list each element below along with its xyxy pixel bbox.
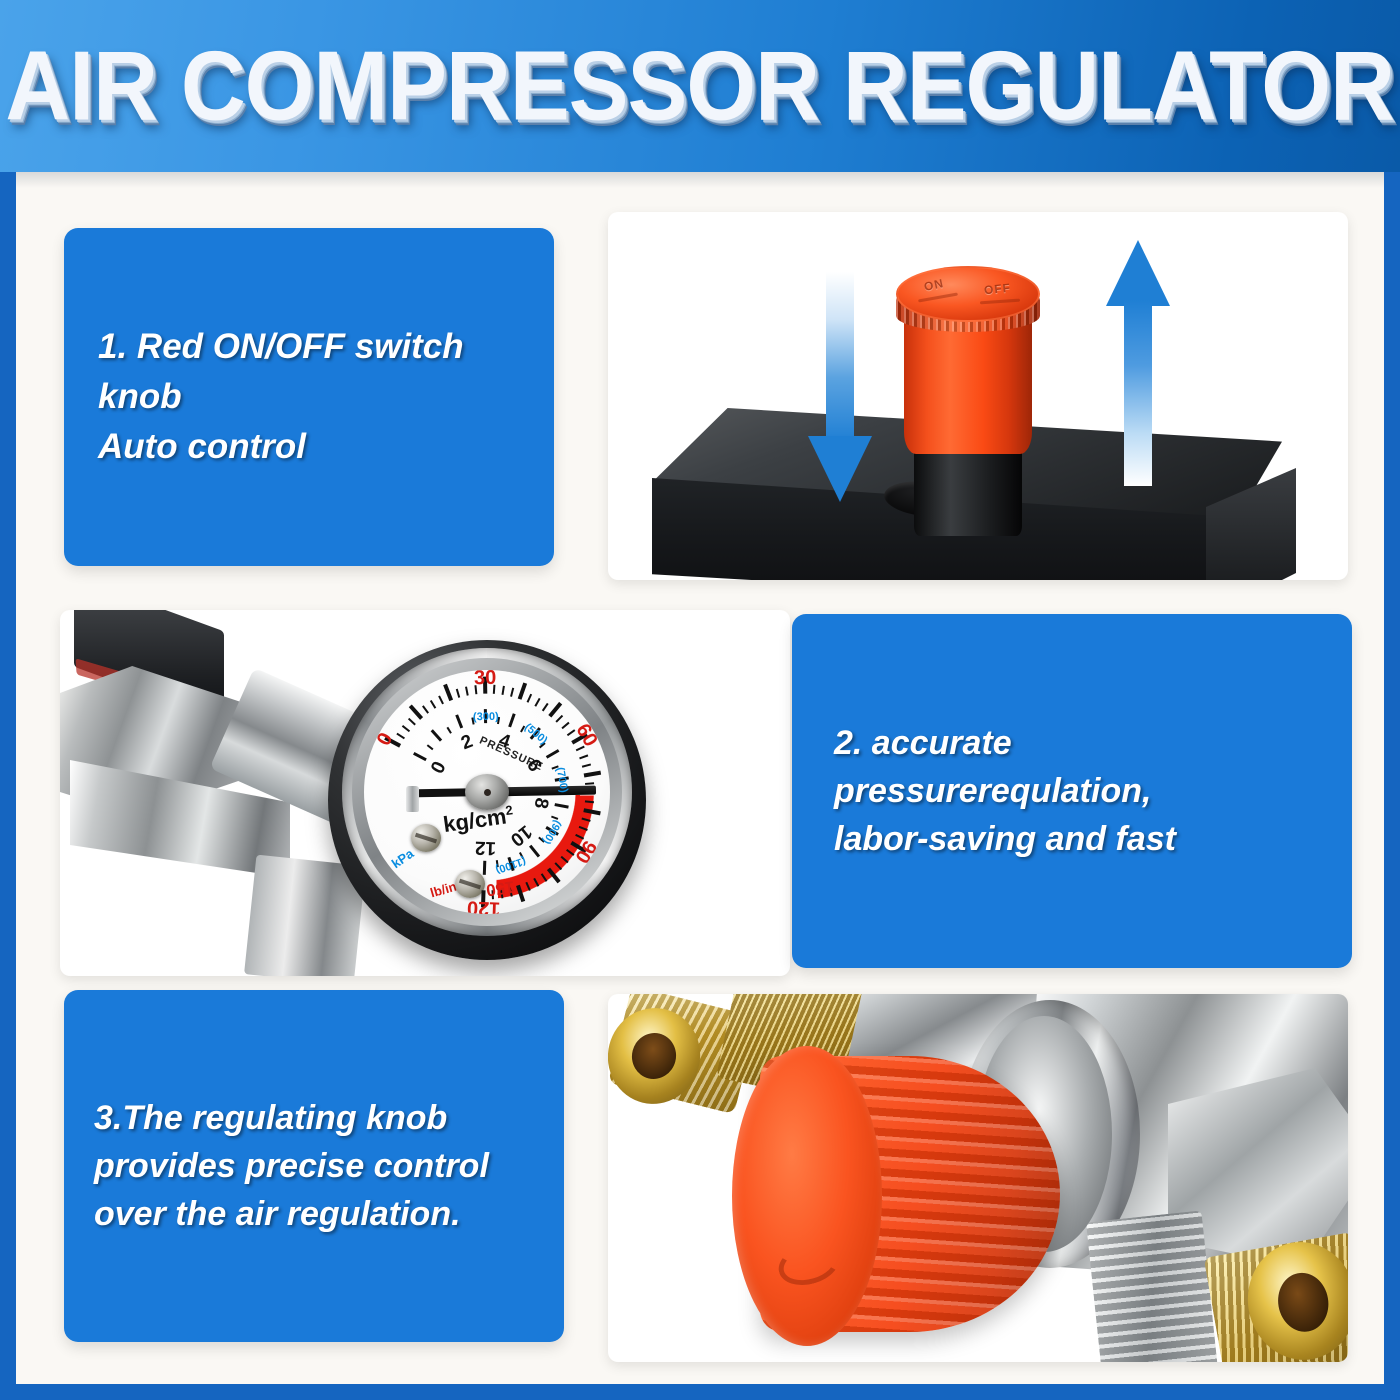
pressure-gauge-photo: PRESSURE kg/cm2 kPa lb/in 03060901200246… xyxy=(60,610,790,976)
gauge-zero-stop-peg xyxy=(406,786,419,812)
page-title: AIR COMPRESSOR REGULATOR xyxy=(6,29,1395,143)
down-arrow-head xyxy=(808,436,872,502)
regulating-knob-photo xyxy=(608,994,1348,1362)
up-arrow-shaft xyxy=(1124,300,1152,486)
gauge-unit-kgcm-sup: 2 xyxy=(504,802,513,818)
switch-knob-cap xyxy=(896,266,1040,322)
pressure-switch-photo: ON OFF xyxy=(608,212,1348,580)
gauge-red-zone-label: 150 xyxy=(485,876,516,900)
feature-card-2: 2. accurate pressurerequlation, labor-sa… xyxy=(792,614,1352,968)
feature-card-1: 1. Red ON/OFF switch knob Auto control xyxy=(64,228,554,566)
pressure-gauge: PRESSURE kg/cm2 kPa lb/in 03060901200246… xyxy=(328,640,646,960)
gauge-kgcm-label: 12 xyxy=(474,836,496,859)
feature-card-3: 3.The regulating knob provides precise c… xyxy=(64,990,564,1342)
gauge-kpa-label: (300) xyxy=(473,711,499,723)
product-infographic-poster: AIR COMPRESSOR REGULATOR 1. Red ON/OFF s… xyxy=(0,0,1400,1400)
up-arrow-head xyxy=(1106,240,1170,306)
gauge-needle-hub xyxy=(465,774,509,810)
content-sheet: 1. Red ON/OFF switch knob Auto control O… xyxy=(16,172,1384,1384)
feature-card-2-text: 2. accurate pressurerequlation, labor-sa… xyxy=(834,719,1176,864)
down-arrow-icon xyxy=(808,272,872,502)
chrome-ribbed-pipe-bottom xyxy=(1086,1210,1218,1362)
gauge-face-screw-1 xyxy=(411,824,441,852)
header-banner: AIR COMPRESSOR REGULATOR xyxy=(0,0,1400,172)
gauge-minor-tick xyxy=(585,792,594,794)
feature-card-3-text: 3.The regulating knob provides precise c… xyxy=(94,1094,489,1239)
up-arrow-icon xyxy=(1106,240,1170,484)
gauge-dial-face: PRESSURE kg/cm2 kPa lb/in 03060901200246… xyxy=(364,670,610,914)
switch-knob-off-label: OFF xyxy=(983,281,1011,298)
sheet-top-shadow xyxy=(16,172,1384,188)
down-arrow-shaft xyxy=(826,272,854,442)
gauge-psi-label: 30 xyxy=(474,670,497,690)
gauge-inner-major-tick xyxy=(482,861,486,875)
regulating-knob-face[interactable] xyxy=(732,1046,882,1346)
feature-card-1-text: 1. Red ON/OFF switch knob Auto control xyxy=(98,322,520,471)
